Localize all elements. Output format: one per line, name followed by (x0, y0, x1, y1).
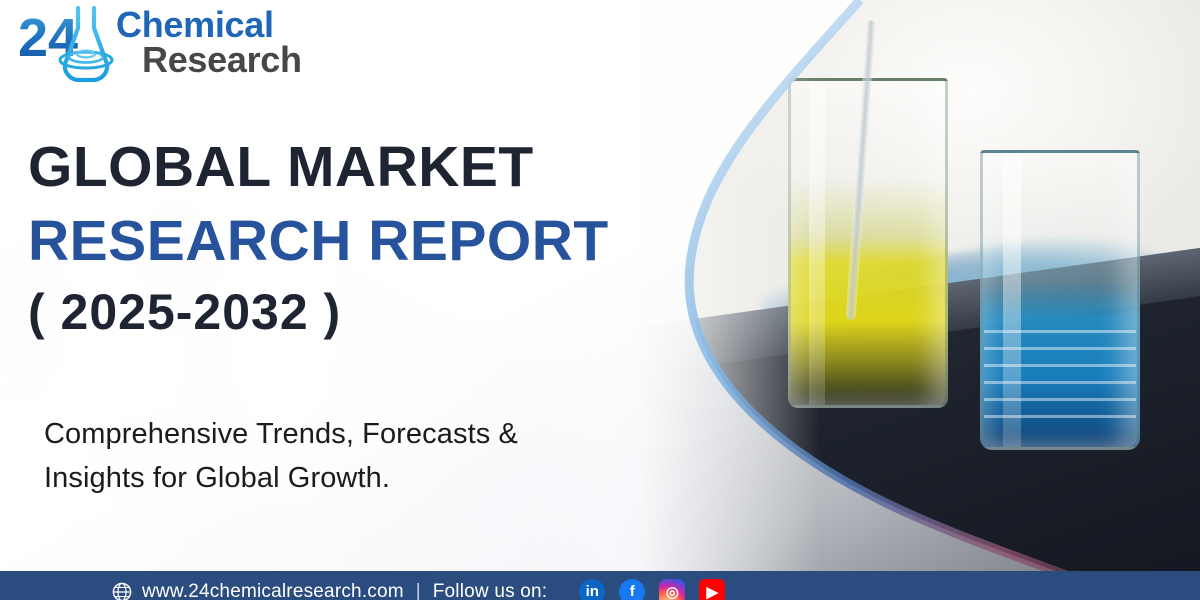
subtitle-line-2: Insights for Global Growth. (44, 456, 518, 500)
facebook-icon[interactable]: f (619, 579, 645, 600)
brand-wordmark: Chemical Research (116, 7, 302, 78)
footer-bar: www.24chemicalresearch.com | Follow us o… (0, 571, 1200, 600)
brand-logo[interactable]: 24 Chemical Research (18, 2, 302, 82)
ripple-inner (77, 51, 95, 58)
subtitle-line-1: Comprehensive Trends, Forecasts & (44, 412, 518, 456)
website-url[interactable]: www.24chemicalresearch.com (142, 581, 404, 600)
social-links: in f ◎ ▶ (579, 579, 725, 600)
subtitle: Comprehensive Trends, Forecasts & Insigh… (44, 412, 518, 500)
footer-separator: | (414, 581, 423, 600)
brand-line-research: Research (142, 42, 302, 77)
page-title: GLOBAL MARKET RESEARCH REPORT ( 2025-203… (28, 138, 609, 338)
title-line-global-market: GLOBAL MARKET (28, 138, 609, 198)
globe-svg (112, 582, 132, 600)
market-report-banner: 24 Chemical Research GLOBAL MARKET RESEA… (0, 0, 1200, 600)
title-line-research-report: RESEARCH REPORT (28, 212, 609, 272)
linkedin-icon[interactable]: in (579, 579, 605, 600)
logo-mark-svg: 24 (18, 2, 122, 82)
globe-icon (112, 582, 132, 600)
youtube-icon[interactable]: ▶ (699, 579, 725, 600)
brand-line-chemical: Chemical (116, 7, 302, 42)
title-line-year-range: ( 2025-2032 ) (28, 286, 609, 339)
follow-us-label: Follow us on: (433, 581, 548, 600)
footer-content: www.24chemicalresearch.com | Follow us o… (112, 579, 725, 600)
instagram-icon[interactable]: ◎ (659, 579, 685, 600)
flask-droplet-icon: 24 (18, 2, 122, 82)
